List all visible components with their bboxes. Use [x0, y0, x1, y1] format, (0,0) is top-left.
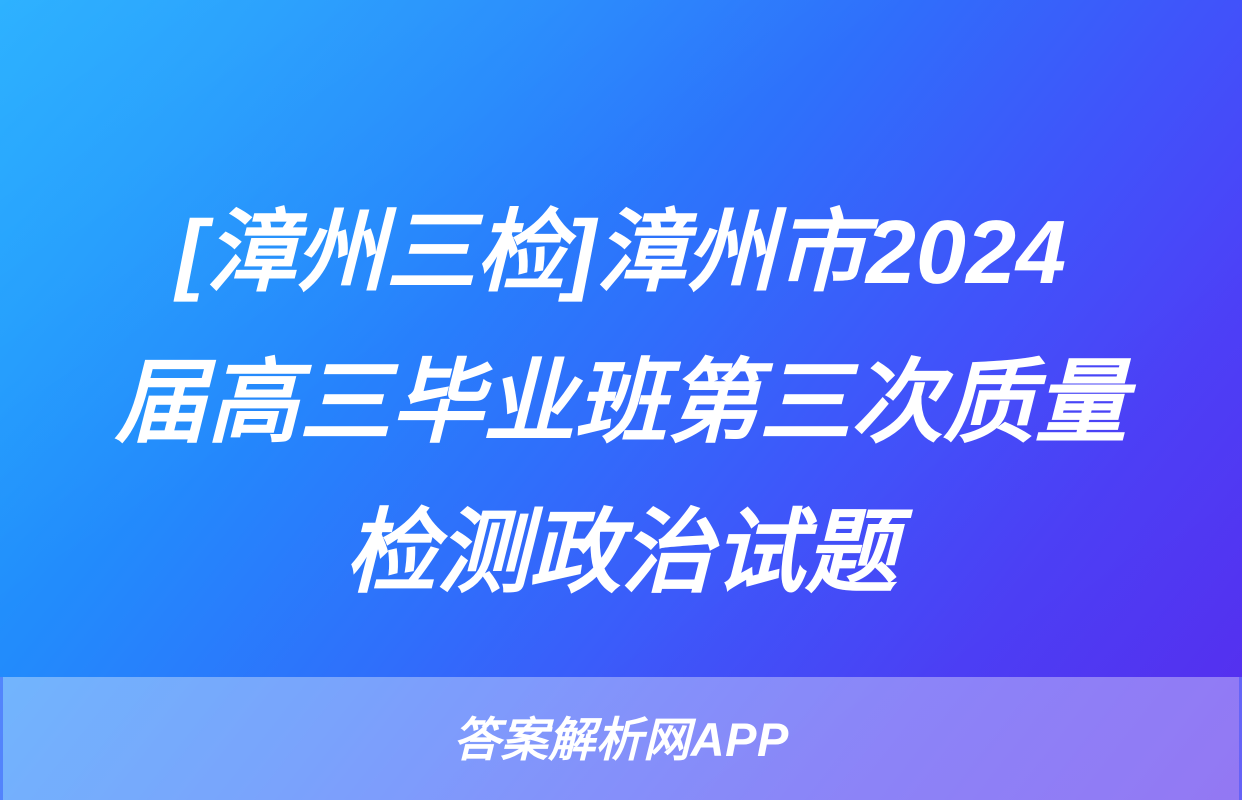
- watermark-band: 答案解析网APP: [0, 677, 1242, 800]
- watermark-band-left-edge: [0, 677, 3, 800]
- title-card: [漳州三检]漳州市2024 届高三毕业班第三次质量 检测政治试题 答案解析网AP…: [0, 0, 1242, 800]
- title-line-2: 届高三毕业班第三次质量: [42, 328, 1200, 478]
- title-line-3: 检测政治试题: [42, 478, 1200, 628]
- watermark-label: 答案解析网APP: [453, 716, 789, 763]
- title-line-1: [漳州三检]漳州市2024: [42, 178, 1200, 328]
- page-title: [漳州三检]漳州市2024 届高三毕业班第三次质量 检测政治试题: [0, 178, 1242, 628]
